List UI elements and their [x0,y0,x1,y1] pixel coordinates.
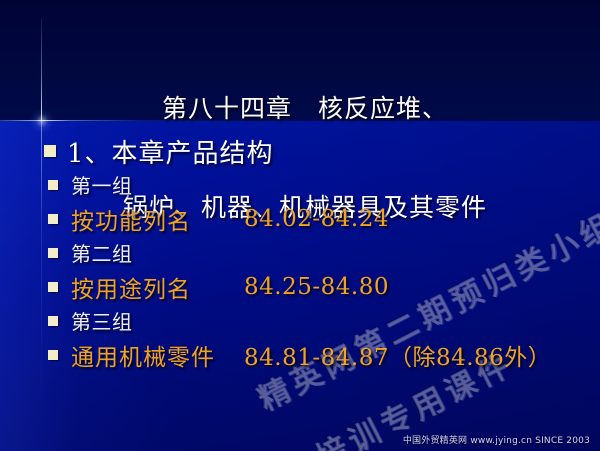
bullet-row: 通用机械零件84.81-84.87（除84.86外） [44,336,589,373]
footer-credit: 中国外贸精英网 www.jying.cn SINCE 2003 [403,433,590,446]
crosshair-center-glow-icon [30,109,54,133]
bullet-label: 第二组 [71,238,133,267]
bullet-label: 按功能列名 [71,202,191,236]
bullet-marker-icon [48,214,58,224]
bullet-row: 第一组 [44,169,589,200]
bullet-row: 第二组 [44,237,589,268]
bullet-label: 按用途列名 [71,270,191,304]
bullet-list: 1、本章产品结构第一组按功能列名84.02-84.24第二组按用途列名84.25… [44,133,589,373]
bullet-code-range: 84.25-84.80 [244,274,389,300]
bullet-marker-icon [44,145,56,157]
bullet-label: 第三组 [71,306,133,335]
bullet-code-range: 84.81-84.87（除84.86外） [244,338,551,372]
bullet-marker-icon [48,282,58,292]
slide-title-line-1: 第八十四章 核反应堆、 [55,92,555,125]
crosshair-vertical-line-upper [41,18,42,121]
bullet-marker-icon [48,248,58,258]
presentation-slide: 第八十四章 核反应堆、 锅炉、机器、机械器具及其零件 精英网第二期预归类小组 培… [0,0,600,451]
bullet-marker-icon [48,350,58,360]
bullet-label: 1、本章产品结构 [67,133,274,170]
bullet-row: 按用途列名84.25-84.80 [44,268,589,305]
bullet-marker-icon [48,180,58,190]
bullet-row: 第三组 [44,305,589,336]
crosshair-vertical-line-lower [41,121,42,451]
bullet-code-range: 84.02-84.24 [244,206,389,232]
bullet-label: 第一组 [71,170,133,199]
bullet-label: 通用机械零件 [71,338,215,372]
bullet-row: 按功能列名84.02-84.24 [44,200,589,237]
bullet-row: 1、本章产品结构 [44,133,589,169]
bullet-marker-icon [48,316,58,326]
